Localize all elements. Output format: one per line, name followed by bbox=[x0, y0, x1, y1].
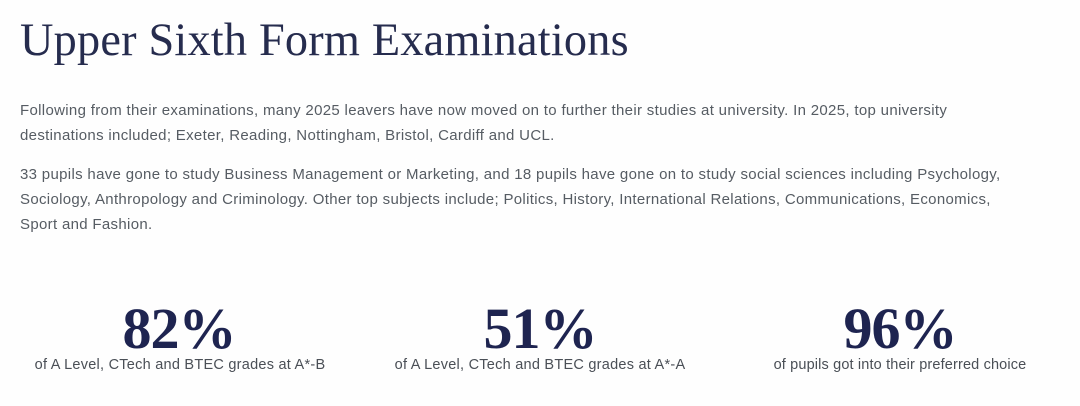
body-copy: Following from their examinations, many … bbox=[20, 98, 1032, 237]
examinations-results-page: Upper Sixth Form Examinations Following … bbox=[0, 0, 1080, 406]
stat-caption: of A Level, CTech and BTEC grades at A*-… bbox=[35, 355, 326, 393]
stat-caption: of pupils got into their preferred choic… bbox=[774, 355, 1027, 393]
page-title: Upper Sixth Form Examinations bbox=[20, 12, 629, 68]
stat-block-a-level-a-star-to-a: 51% of A Level, CTech and BTEC grades at… bbox=[360, 300, 720, 393]
subjects-paragraph: 33 pupils have gone to study Business Ma… bbox=[20, 162, 1032, 237]
stat-block-preferred-choice: 96% of pupils got into their preferred c… bbox=[720, 300, 1080, 393]
statistics-row: 82% of A Level, CTech and BTEC grades at… bbox=[0, 300, 1080, 393]
stat-value: 96% bbox=[844, 300, 957, 358]
intro-paragraph: Following from their examinations, many … bbox=[20, 98, 1032, 148]
stat-value: 82% bbox=[123, 300, 236, 358]
stat-caption: of A Level, CTech and BTEC grades at A*-… bbox=[395, 355, 686, 393]
stat-value: 51% bbox=[484, 300, 597, 358]
stat-block-a-level-a-star-to-b: 82% of A Level, CTech and BTEC grades at… bbox=[0, 300, 360, 393]
